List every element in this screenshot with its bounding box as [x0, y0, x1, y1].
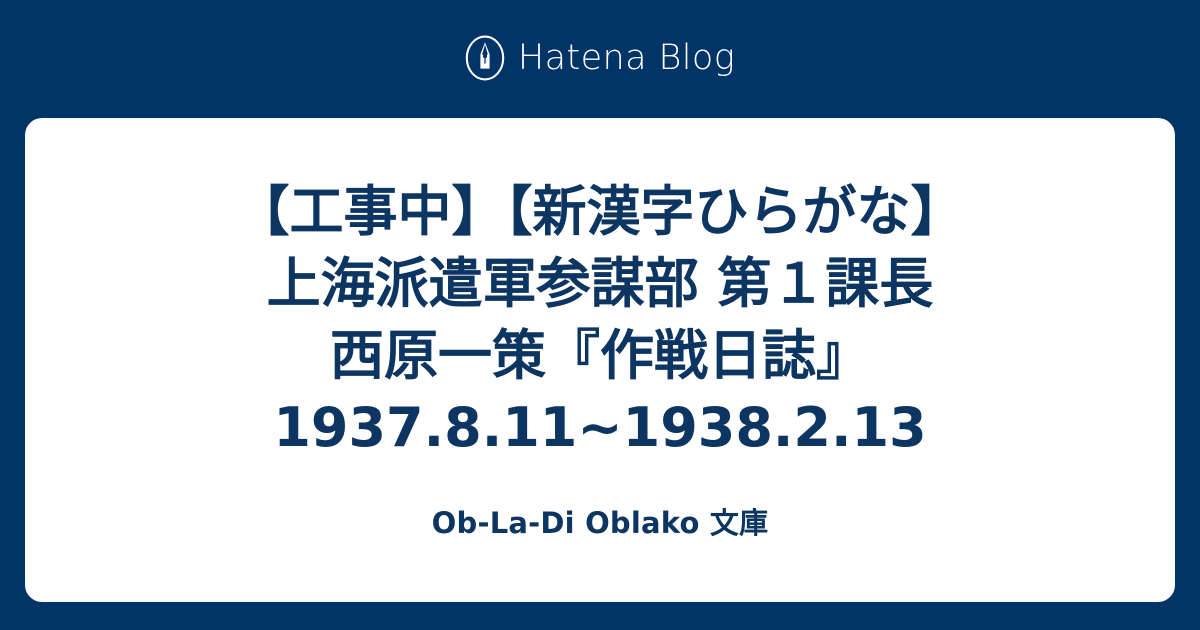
entry-title-line-1: 【工事中】【新漢字ひらがな】 — [220, 176, 980, 248]
page-title: 【工事中】【新漢字ひらがな】 上海派遣軍参謀部 第１課長 西原一策『作戦日誌』 … — [220, 118, 980, 464]
entry-title-line-2: 上海派遣軍参謀部 第１課長 — [220, 248, 980, 320]
entry-title-line-4: 1937.8.11~1938.2.13 — [220, 392, 980, 464]
entry-card: 【工事中】【新漢字ひらがな】 上海派遣軍参謀部 第１課長 西原一策『作戦日誌』 … — [25, 118, 1175, 602]
hatena-blog-logo[interactable]: Hatena Blog — [465, 35, 735, 81]
hatena-pen-nib-icon — [465, 35, 505, 81]
ogp-card-root: Hatena Blog 【工事中】【新漢字ひらがな】 上海派遣軍参謀部 第１課長… — [0, 0, 1200, 630]
hatena-blog-header: Hatena Blog — [0, 0, 1200, 118]
hatena-blog-wordmark: Hatena Blog — [518, 41, 735, 76]
entry-title-line-3: 西原一策『作戦日誌』 — [220, 320, 980, 392]
blog-name: Ob-La-Di Oblako 文庫 — [432, 464, 769, 541]
